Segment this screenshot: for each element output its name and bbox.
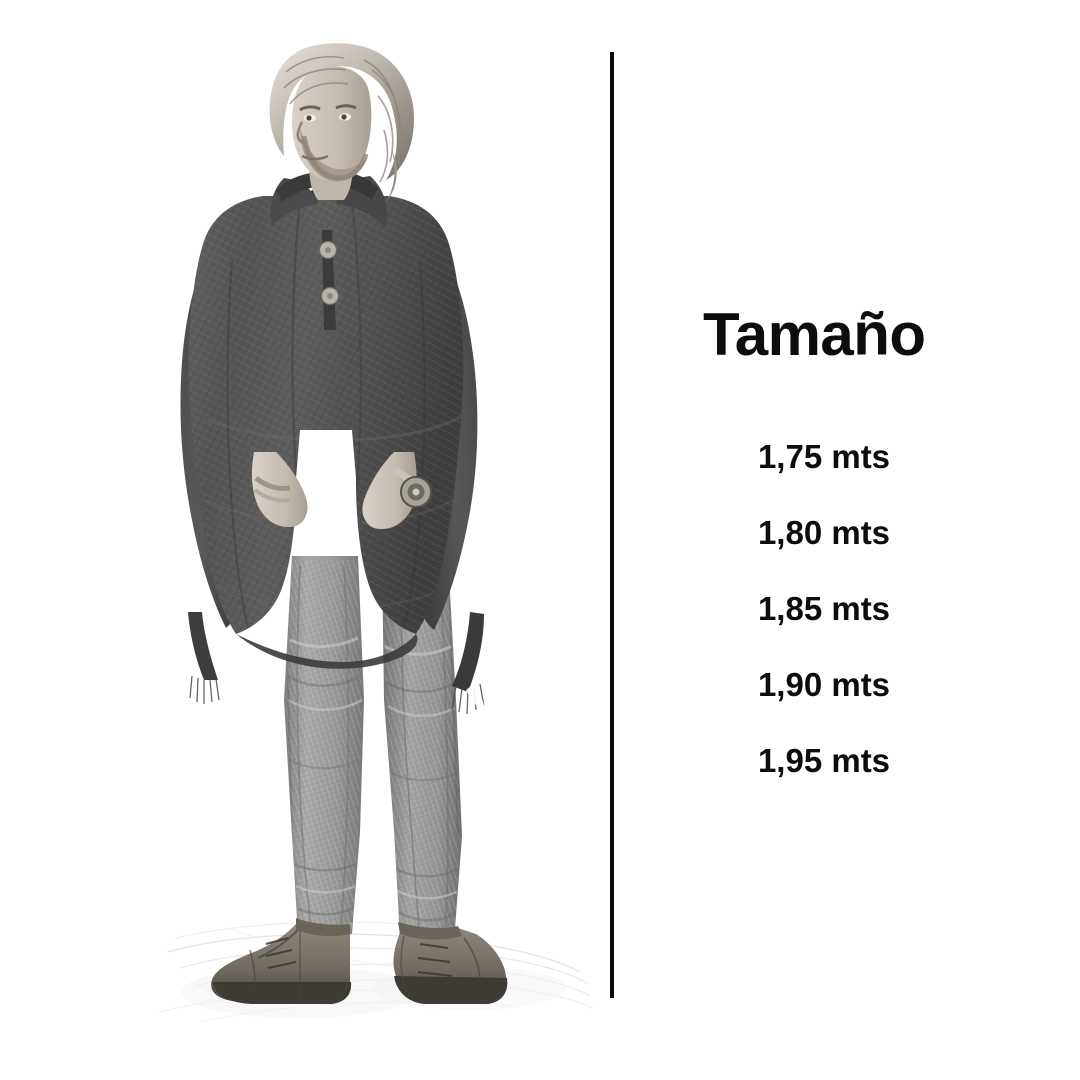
list-item: 1,95 mts — [640, 723, 1080, 799]
size-options-list: 1,75 mts 1,80 mts 1,85 mts 1,90 mts 1,95… — [640, 419, 1080, 799]
list-item: 1,90 mts — [640, 647, 1080, 723]
list-item: 1,75 mts — [640, 419, 1080, 495]
size-label: 1,80 mts — [758, 514, 890, 552]
size-text-panel: Tamaño 1,75 mts 1,80 mts 1,85 mts 1,90 m… — [640, 0, 1080, 1080]
list-item: 1,85 mts — [640, 571, 1080, 647]
size-label: 1,85 mts — [758, 590, 890, 628]
jeans — [280, 550, 474, 950]
page-title: Tamaño — [703, 305, 926, 365]
standing-man-poncho-illustration — [0, 0, 600, 1080]
vertical-measuring-line — [610, 52, 614, 998]
size-label: 1,90 mts — [758, 666, 890, 704]
size-label: 1,95 mts — [758, 742, 890, 780]
size-chart-page: Tamaño 1,75 mts 1,80 mts 1,85 mts 1,90 m… — [0, 0, 1080, 1080]
list-item: 1,80 mts — [640, 495, 1080, 571]
size-label: 1,75 mts — [758, 438, 890, 476]
figure-panel — [0, 0, 600, 1080]
head — [270, 43, 414, 202]
hands-and-wrists — [252, 452, 431, 529]
